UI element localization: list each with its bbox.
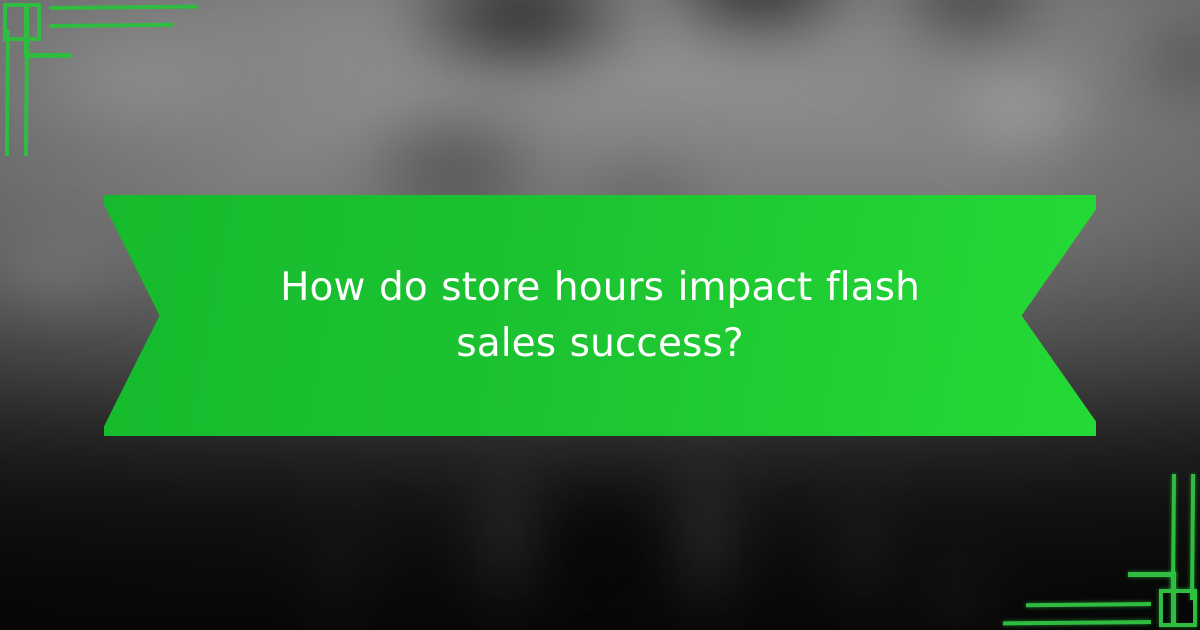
corner-line-long-horizontal [1003, 620, 1151, 625]
corner-bracket-bottom-right [1000, 450, 1200, 630]
corner-elbow-horizontal [1128, 572, 1176, 577]
corner-line-short-vertical [24, 40, 29, 156]
corner-line-long-horizontal [49, 5, 197, 10]
corner-line-long-vertical [5, 30, 10, 156]
page-title: How do store hours impact flash sales su… [240, 260, 960, 371]
corner-line-short-horizontal [1026, 602, 1151, 607]
headline-banner-inner: How do store hours impact flash sales su… [240, 260, 960, 371]
corner-line-short-horizontal [49, 23, 174, 28]
social-card: How do store hours impact flash sales su… [0, 0, 1200, 630]
corner-elbow-horizontal [24, 53, 72, 58]
headline-banner: How do store hours impact flash sales su… [104, 195, 1096, 436]
corner-bracket-top-left [0, 0, 200, 180]
corner-line-long-vertical [1190, 474, 1195, 600]
